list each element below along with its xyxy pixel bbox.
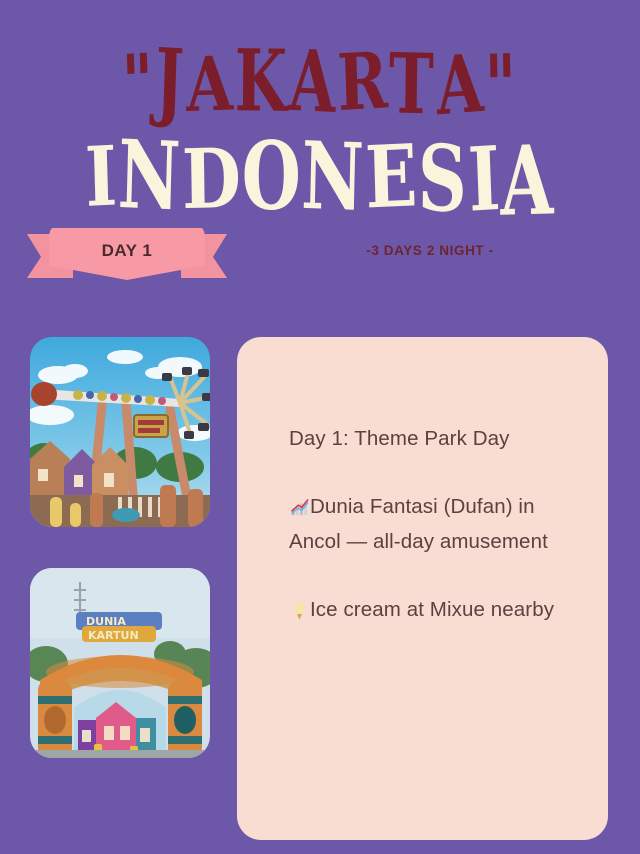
poster-title: "JAKARTA" INDONESIA <box>0 42 640 202</box>
itinerary-item-attraction: Dunia Fantasi (Dufan) in Ancol — all-day… <box>289 490 557 559</box>
dunia-kartun-gate-photo: DUNIA KARTUN <box>30 568 210 758</box>
swing-ride-illustration <box>30 337 210 527</box>
ice-cream-icon <box>289 594 310 628</box>
dufan-swing-ride-photo <box>30 337 210 527</box>
poster-canvas: "JAKARTA" INDONESIA DAY 1 -3 DAYS 2 NIGH… <box>0 0 640 854</box>
itinerary-item-food: Ice cream at Mixue nearby <box>289 593 557 628</box>
chart-increasing-icon <box>289 491 310 525</box>
itinerary-item-text: Dunia Fantasi (Dufan) in Ancol — all-day… <box>289 495 548 553</box>
title-line-jakarta: "JAKARTA" <box>10 42 631 126</box>
ribbon-label: DAY 1 <box>49 228 205 274</box>
svg-text:DUNIA: DUNIA <box>86 615 126 628</box>
itinerary-card: Day 1: Theme Park Day Dunia Fantasi (Duf… <box>237 337 608 840</box>
itinerary-card-content: Day 1: Theme Park Day Dunia Fantasi (Duf… <box>289 422 557 628</box>
day-ribbon-banner: DAY 1 <box>27 228 227 286</box>
title-line-indonesia: INDONESIA <box>0 132 640 224</box>
trip-duration-subtitle: -3 DAYS 2 NIGHT - <box>330 243 530 258</box>
itinerary-item-text: Ice cream at Mixue nearby <box>310 598 554 621</box>
park-gate-illustration: DUNIA KARTUN <box>30 568 210 758</box>
svg-text:KARTUN: KARTUN <box>88 629 139 642</box>
itinerary-heading: Day 1: Theme Park Day <box>289 422 557 456</box>
